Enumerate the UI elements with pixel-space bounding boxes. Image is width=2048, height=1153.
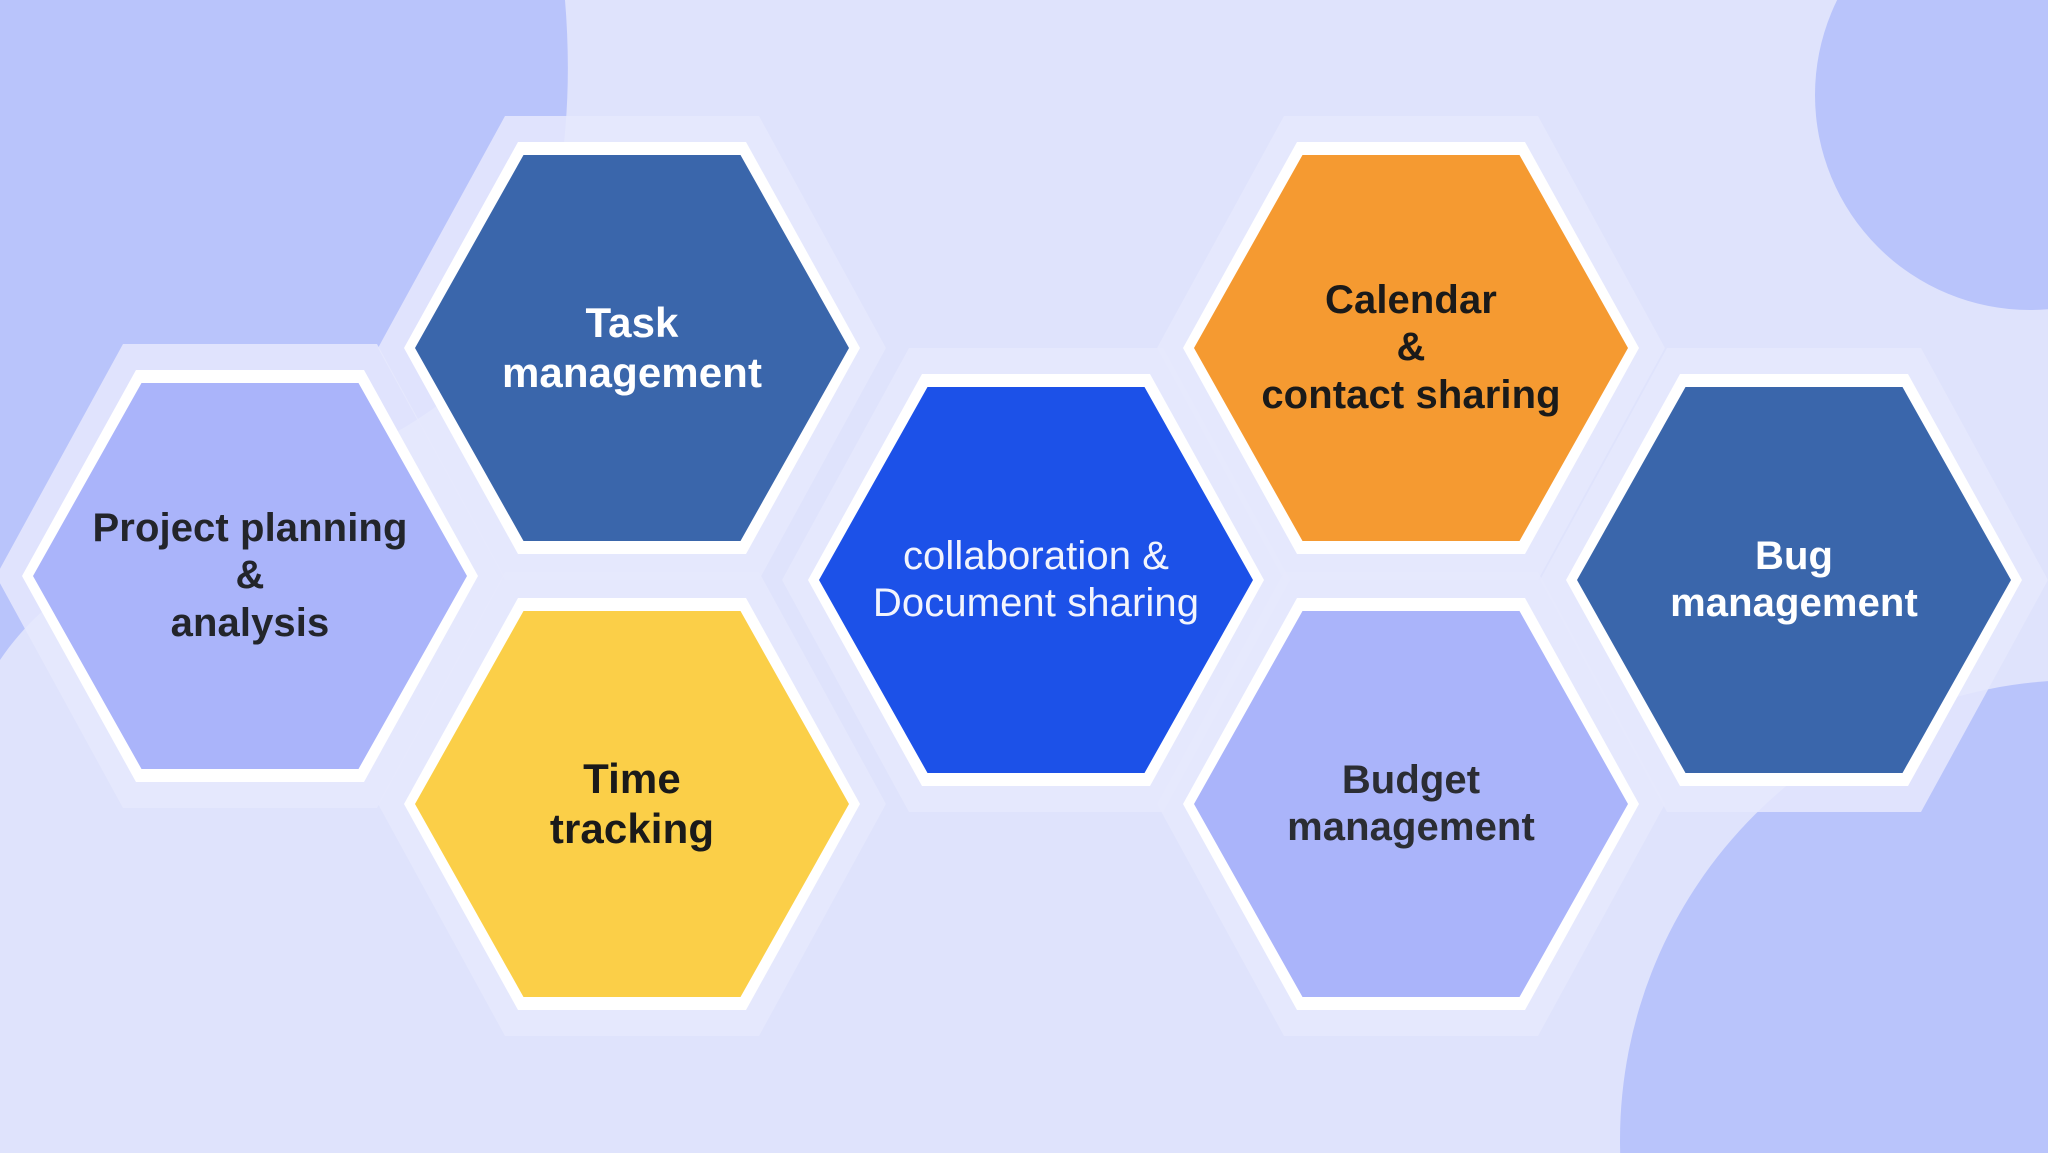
hexagon-label-task-management: Task management — [475, 298, 790, 397]
hexagon-time-tracking[interactable]: Time tracking — [404, 598, 860, 1010]
hexagon-label-time-tracking: Time tracking — [523, 754, 742, 853]
hexagon-label-calendar-contact-sharing: Calendar & contact sharing — [1234, 277, 1588, 419]
hexagon-label-project-planning: Project planning & analysis — [65, 505, 435, 647]
hexagon-label-collaboration-document-sharing: collaboration & Document sharing — [846, 533, 1227, 627]
hexagon-task-management[interactable]: Task management — [404, 142, 860, 554]
hexagon-field: Project planning & analysis Task managem… — [0, 0, 2048, 1153]
hexagon-label-budget-management: Budget management — [1260, 757, 1562, 851]
diagram-canvas: Project planning & analysis Task managem… — [0, 0, 2048, 1153]
hexagon-label-bug-management: Bug management — [1643, 533, 1945, 627]
hexagon-bug-management[interactable]: Bug management — [1566, 374, 2022, 786]
